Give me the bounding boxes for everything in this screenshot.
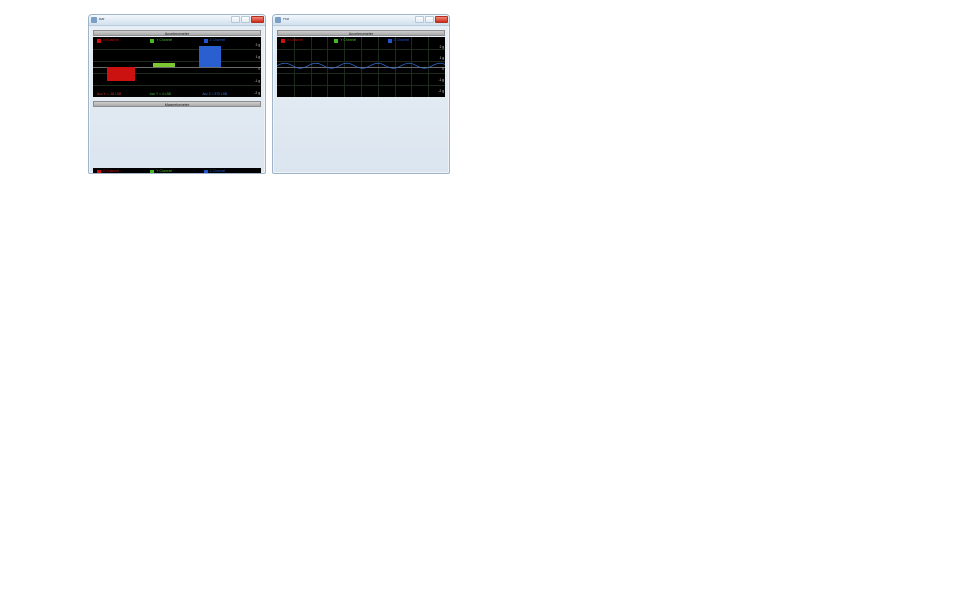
close-icon[interactable] — [435, 16, 448, 23]
tick-label-bar-0: -2 g — [255, 91, 261, 95]
titlebar-plot[interactable]: Plot — [273, 15, 449, 26]
tick-label-bar-0: -1 g — [255, 79, 261, 83]
footer-label-bar0-0: Acc X = -28 LSB — [97, 92, 121, 96]
minimize-button[interactable] — [231, 16, 240, 23]
section-header-bar-1: Magnetometer — [93, 101, 261, 107]
chart-bar-0: X ChannelY ChannelZ Channel2 g1 g0-1 g-2… — [93, 37, 261, 97]
client-area-plot: AccelerometerX ChannelY ChannelZ Channel… — [273, 26, 449, 173]
grid-line-h — [93, 49, 261, 50]
legend-swatch — [204, 39, 208, 43]
chart-plot-0: X ChannelY ChannelZ Channel2 g1 g0-1 g-2… — [277, 37, 445, 97]
window-plot: PlotAccelerometerX ChannelY ChannelZ Cha… — [272, 14, 450, 174]
maximize-button[interactable] — [241, 16, 250, 23]
legend-label: Z Channel — [210, 170, 226, 173]
window-controls[interactable] — [231, 16, 264, 23]
legend-label: X Channel — [103, 39, 119, 42]
titlebar-bar[interactable]: Bar — [89, 15, 265, 26]
client-area-bar: AccelerometerX ChannelY ChannelZ Channel… — [89, 26, 265, 173]
legend-item-bar1-2: Z Channel — [204, 170, 226, 174]
window-controls[interactable] — [415, 16, 448, 23]
legend-label: Y Channel — [156, 170, 172, 173]
app-icon — [91, 17, 97, 23]
legend-swatch — [97, 170, 101, 174]
bar-accelerometer-Y — [153, 63, 175, 67]
app-icon — [275, 17, 281, 23]
legend-swatch — [204, 170, 208, 174]
grid-line-h — [93, 61, 261, 62]
bar-accelerometer-Z — [199, 46, 221, 67]
minimize-button[interactable] — [415, 16, 424, 23]
maximize-button[interactable] — [425, 16, 434, 23]
footer-label-bar0-1: Acc Y = 4 LSB — [150, 92, 171, 96]
trace-z-0 — [277, 37, 445, 97]
legend-swatch — [97, 39, 101, 43]
legend-item-bar0-2: Z Channel — [204, 39, 226, 43]
legend-item-bar1-0: X Channel — [97, 170, 119, 174]
tick-label-bar-0: 1 g — [256, 55, 260, 59]
legend-item-bar0-0: X Channel — [97, 39, 119, 43]
legend-item-bar1-1: Y Channel — [150, 170, 172, 174]
legend-item-bar0-1: Y Channel — [150, 39, 172, 43]
section-header-plot-0: Accelerometer — [277, 30, 445, 36]
figure-root: BarAccelerometerX ChannelY ChannelZ Chan… — [0, 0, 980, 605]
grid-line-h — [93, 85, 261, 86]
bar-accelerometer-X — [107, 67, 135, 81]
window-title: Bar — [99, 18, 105, 22]
footer-label-bar0-2: Acc Z = 970 LSB — [202, 92, 227, 96]
legend-swatch — [150, 170, 154, 174]
legend-label: Y Channel — [156, 39, 172, 42]
tick-label-bar-0: 0 — [258, 67, 260, 71]
legend-label: Z Channel — [210, 39, 226, 42]
window-bar: BarAccelerometerX ChannelY ChannelZ Chan… — [88, 14, 266, 174]
chart-bar-1: X ChannelY ChannelZ Channel0.250.1250-0.… — [93, 168, 261, 174]
tick-label-bar-0: 2 g — [256, 43, 260, 47]
legend-swatch — [150, 39, 154, 43]
close-icon[interactable] — [251, 16, 264, 23]
section-header-bar-0: Accelerometer — [93, 30, 261, 36]
window-title: Plot — [283, 18, 289, 22]
legend-label: X Channel — [103, 170, 119, 173]
